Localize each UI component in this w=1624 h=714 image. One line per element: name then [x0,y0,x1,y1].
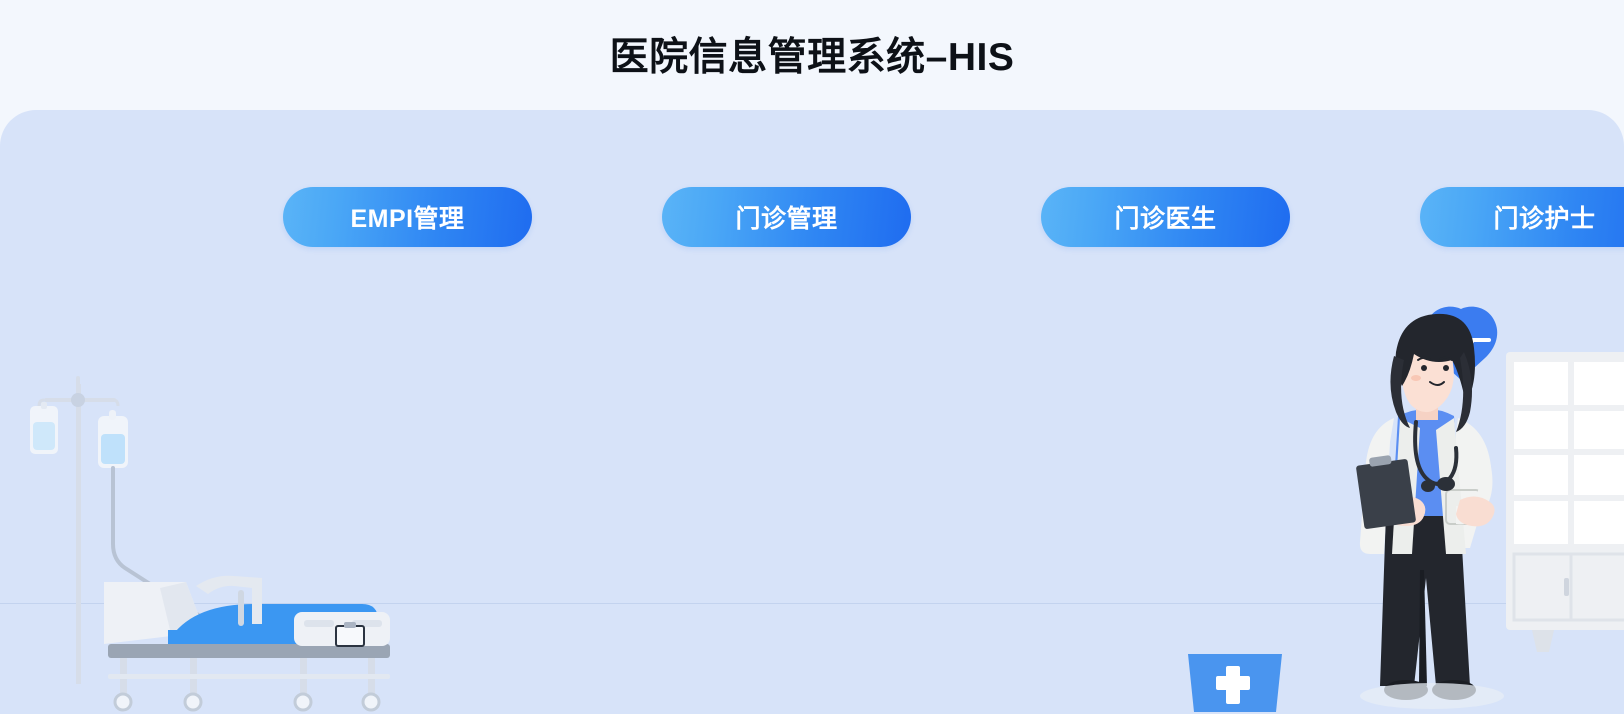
module-button-empi-management[interactable]: EMPI管理 [283,187,532,247]
module-button-outpatient-doctor[interactable]: 门诊医生 [1041,187,1290,247]
doctor-cabinet-illustration [1294,294,1624,714]
app-root: 医院信息管理系统–HIS [0,0,1624,714]
heartbeat-heart-icon [1425,307,1497,380]
module-button-outpatient-management[interactable]: 门诊管理 [662,187,911,247]
modules-panel: EMPI管理 门诊管理 门诊医生 门诊护士 预约挂号 药品管理 药房管理 药库管… [0,110,1624,714]
page-title: 医院信息管理系统–HIS [0,30,1624,86]
module-button-grid: EMPI管理 门诊管理 门诊医生 门诊护士 预约挂号 药品管理 药房管理 药库管… [283,187,1293,700]
module-button-outpatient-nurse[interactable]: 门诊护士 [1420,187,1624,247]
